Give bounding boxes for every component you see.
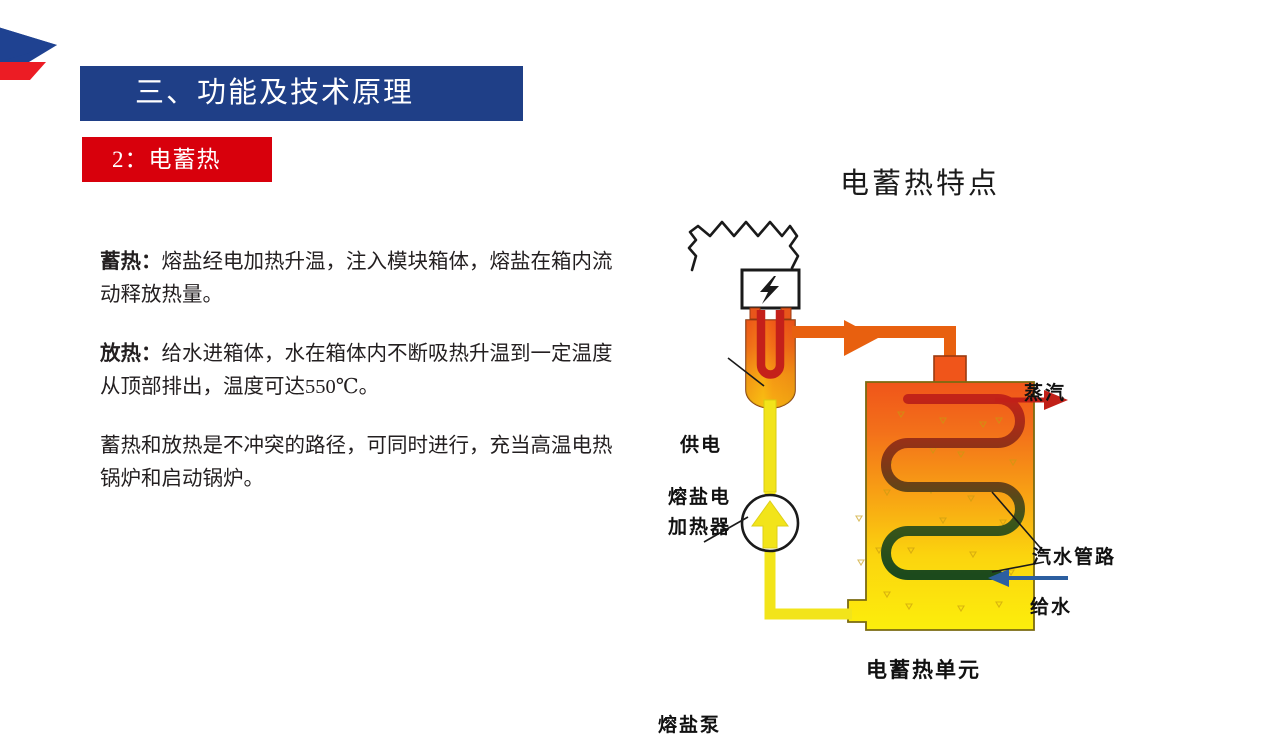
hot-salt-pipe [792, 320, 950, 378]
label-salt-pump: 熔盐泵 [658, 710, 721, 737]
section-title-text: 三、功能及技术原理 [80, 79, 414, 108]
thermal-storage-diagram: 电蓄热特点 [640, 160, 1200, 705]
corner-logo-shape [0, 18, 80, 88]
label-steam-water-pipe: 汽水管路 [1032, 542, 1116, 569]
paragraph-3-rest: 蓄热和放热是不冲突的路径，可同时进行，充当高温电热锅炉和启动锅炉。 [100, 435, 613, 490]
label-power-supply: 供电 [680, 430, 722, 457]
diagram-graphic [640, 160, 1200, 705]
subsection-badge: 2：电蓄热 [82, 137, 272, 182]
molten-salt-electric-heater [746, 310, 795, 492]
label-feedwater: 给水 [1030, 592, 1072, 619]
label-salt-heater-line2: 加热器 [668, 512, 731, 539]
diagram-title: 电蓄热特点 [640, 160, 1200, 202]
label-steam: 蒸汽 [1024, 378, 1066, 405]
paragraph-1-lead: 蓄热： [100, 251, 162, 273]
paragraph-1: 蓄热：熔盐经电加热升温，注入模块箱体，熔盐在箱内流动释放热量。 [100, 246, 620, 312]
subsection-badge-text: 2：电蓄热 [82, 148, 221, 171]
paragraph-1-rest: 熔盐经电加热升温，注入模块箱体，熔盐在箱内流动释放热量。 [100, 251, 613, 306]
paragraph-2: 放热：给水进箱体，水在箱体内不断吸热升温到一定温度从顶部排出，温度可达550℃。 [100, 338, 620, 404]
power-line-zigzag [689, 222, 798, 270]
label-unit-caption: 电蓄热单元 [866, 654, 981, 684]
paragraph-2-lead: 放热： [100, 343, 162, 365]
paragraph-2-rest: 给水进箱体，水在箱体内不断吸热升温到一定温度从顶部排出，温度可达550℃。 [100, 343, 613, 398]
molten-salt-pump [742, 495, 798, 551]
corner-logo [0, 18, 80, 88]
section-title-bar: 三、功能及技术原理 [80, 66, 523, 121]
hot-salt-flow-arrow [844, 320, 878, 356]
electric-heater-box [742, 270, 799, 319]
logo-red-parallelogram [0, 62, 46, 80]
thermal-storage-tank [848, 356, 1034, 630]
slide-canvas: 三、功能及技术原理 2：电蓄热 蓄热：熔盐经电加热升温，注入模块箱体，熔盐在箱内… [0, 0, 1280, 720]
body-copy: 蓄热：熔盐经电加热升温，注入模块箱体，熔盐在箱内流动释放热量。 放热：给水进箱体… [100, 246, 620, 496]
paragraph-3: 蓄热和放热是不冲突的路径，可同时进行，充当高温电热锅炉和启动锅炉。 [100, 430, 620, 496]
label-salt-heater-line1: 熔盐电 [668, 482, 731, 509]
